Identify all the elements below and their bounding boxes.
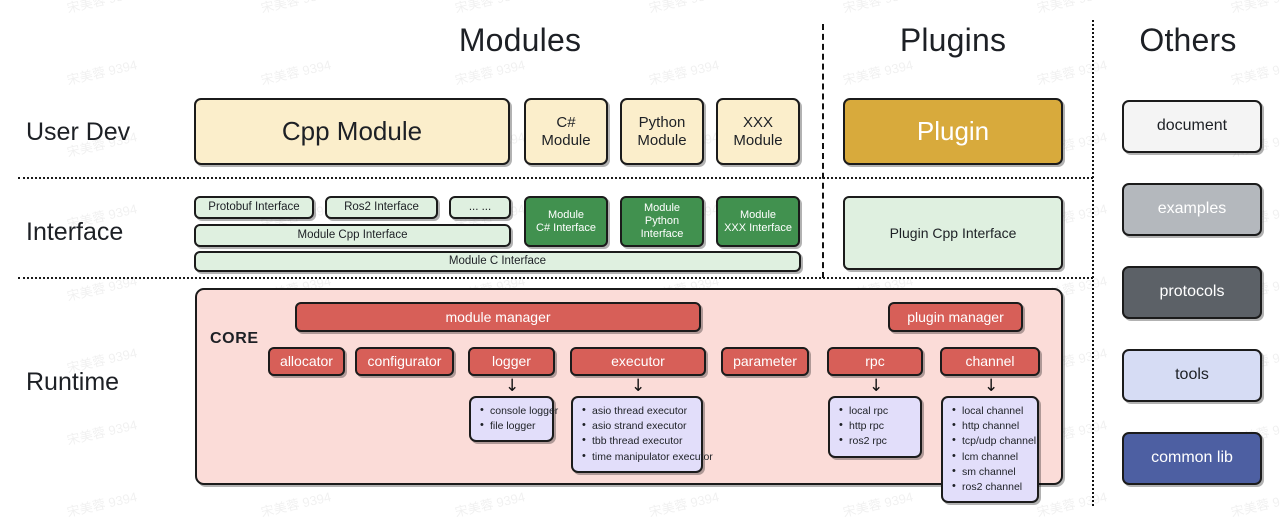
others-tools-label: tools: [1175, 366, 1209, 385]
core-label: CORE: [210, 330, 259, 348]
row-label-user-dev: User Dev: [26, 118, 130, 147]
detail-list-item: tbb thread executor: [592, 434, 693, 449]
interface-module-c[interactable]: Module C Interface: [194, 251, 801, 272]
row-label-interface: Interface: [26, 218, 123, 247]
core-module-manager[interactable]: module manager: [295, 302, 701, 332]
interface-module-c-label: Module C Interface: [449, 255, 546, 269]
watermark: 宋美蓉 9394: [259, 0, 333, 17]
arrow-down-icon-executor: ↓: [631, 378, 645, 395]
watermark: 宋美蓉 9394: [65, 486, 139, 521]
detail-list-executor-items: asio thread executorasio strand executor…: [579, 404, 693, 465]
interface-module-csharp[interactable]: ModuleC# Interface: [524, 196, 608, 247]
detail-list-item: asio thread executor: [592, 404, 693, 419]
core-component-configurator[interactable]: configurator: [355, 347, 454, 376]
divider-interface-runtime: [18, 277, 1093, 279]
detail-list-logger-items: console loggerfile logger: [477, 404, 544, 434]
core-component-channel[interactable]: channel: [940, 347, 1040, 376]
watermark: 宋美蓉 9394: [65, 0, 139, 17]
detail-list-item: lcm channel: [962, 450, 1029, 465]
detail-list-rpc: local rpchttp rpcros2 rpc: [828, 396, 922, 458]
interface-protobuf-label: Protobuf Interface: [208, 201, 299, 215]
others-tools[interactable]: tools: [1122, 349, 1262, 402]
divider-user-dev-interface: [18, 177, 1093, 179]
divider-plugins-others: [1092, 20, 1094, 506]
detail-list-item: ros2 rpc: [849, 434, 912, 449]
watermark: 宋美蓉 9394: [1229, 0, 1280, 17]
core-plugin-manager[interactable]: plugin manager: [888, 302, 1023, 332]
watermark: 宋美蓉 9394: [259, 486, 333, 521]
watermark: 宋美蓉 9394: [841, 0, 915, 17]
others-document-label: document: [1157, 117, 1227, 136]
detail-list-channel: local channelhttp channeltcp/udp channel…: [941, 396, 1039, 503]
watermark: 宋美蓉 9394: [1229, 486, 1280, 521]
column-title-plugins: Plugins: [833, 22, 1073, 59]
others-examples-label: examples: [1158, 200, 1226, 219]
core-component-rpc-label: rpc: [865, 353, 884, 370]
divider-modules-plugins: [822, 24, 824, 278]
interface-module-xxx[interactable]: ModuleXXX Interface: [716, 196, 800, 247]
watermark: 宋美蓉 9394: [259, 54, 333, 89]
interface-ros2[interactable]: Ros2 Interface: [325, 196, 438, 219]
core-component-rpc[interactable]: rpc: [827, 347, 923, 376]
core-component-allocator[interactable]: allocator: [268, 347, 345, 376]
detail-list-logger: console loggerfile logger: [469, 396, 554, 442]
detail-list-channel-items: local channelhttp channeltcp/udp channel…: [949, 404, 1029, 495]
detail-list-executor: asio thread executorasio strand executor…: [571, 396, 703, 473]
column-title-others: Others: [1102, 22, 1274, 59]
watermark: 宋美蓉 9394: [647, 486, 721, 521]
others-common-lib-label: common lib: [1151, 449, 1233, 468]
core-component-allocator-label: allocator: [280, 353, 333, 370]
core-component-parameter[interactable]: parameter: [721, 347, 809, 376]
interface-ros2-label: Ros2 Interface: [344, 201, 419, 215]
detail-list-item: http rpc: [849, 419, 912, 434]
detail-list-item: http channel: [962, 419, 1029, 434]
watermark: 宋美蓉 9394: [841, 486, 915, 521]
interface-ellipsis-label: ... ...: [469, 201, 491, 215]
core-component-channel-label: channel: [965, 353, 1014, 370]
core-plugin-manager-label: plugin manager: [907, 309, 1004, 326]
detail-list-item: file logger: [490, 419, 544, 434]
interface-module-python[interactable]: ModulePython Interface: [620, 196, 704, 247]
core-component-logger[interactable]: logger: [468, 347, 555, 376]
watermark: 宋美蓉 9394: [1035, 54, 1109, 89]
interface-module-python-label: ModulePython Interface: [622, 202, 702, 241]
diagram-canvas: 宋美蓉 9394宋美蓉 9394宋美蓉 9394宋美蓉 9394宋美蓉 9394…: [0, 0, 1280, 519]
others-document[interactable]: document: [1122, 100, 1262, 153]
arrow-down-icon-rpc: ↓: [869, 378, 883, 395]
user-dev-python-module-label: PythonModule: [637, 114, 686, 149]
watermark: 宋美蓉 9394: [65, 54, 139, 89]
others-common-lib[interactable]: common lib: [1122, 432, 1262, 485]
others-examples[interactable]: examples: [1122, 183, 1262, 236]
user-dev-plugin[interactable]: Plugin: [843, 98, 1063, 165]
core-module-manager-label: module manager: [445, 309, 550, 326]
detail-list-item: sm channel: [962, 465, 1029, 480]
row-label-runtime: Runtime: [26, 368, 119, 397]
interface-protobuf[interactable]: Protobuf Interface: [194, 196, 314, 219]
watermark: 宋美蓉 9394: [1229, 54, 1280, 89]
watermark: 宋美蓉 9394: [647, 54, 721, 89]
user-dev-cpp-module[interactable]: Cpp Module: [194, 98, 510, 165]
user-dev-csharp-module-label: C#Module: [541, 114, 590, 149]
interface-module-csharp-label: ModuleC# Interface: [536, 209, 596, 235]
interface-ellipsis[interactable]: ... ...: [449, 196, 511, 219]
interface-module-xxx-label: ModuleXXX Interface: [724, 209, 792, 235]
watermark: 宋美蓉 9394: [841, 54, 915, 89]
user-dev-cpp-module-label: Cpp Module: [282, 116, 422, 147]
user-dev-python-module[interactable]: PythonModule: [620, 98, 704, 165]
detail-list-rpc-items: local rpchttp rpcros2 rpc: [836, 404, 912, 450]
user-dev-csharp-module[interactable]: C#Module: [524, 98, 608, 165]
core-component-logger-label: logger: [492, 353, 531, 370]
detail-list-item: tcp/udp channel: [962, 434, 1029, 449]
user-dev-xxx-module[interactable]: XXXModule: [716, 98, 800, 165]
watermark: 宋美蓉 9394: [453, 486, 527, 521]
interface-plugin-cpp[interactable]: Plugin Cpp Interface: [843, 196, 1063, 270]
watermark: 宋美蓉 9394: [647, 0, 721, 17]
watermark: 宋美蓉 9394: [1035, 0, 1109, 17]
detail-list-item: console logger: [490, 404, 544, 419]
detail-list-item: time manipulator executor: [592, 450, 693, 465]
core-component-parameter-label: parameter: [733, 353, 797, 370]
watermark: 宋美蓉 9394: [1035, 486, 1109, 521]
user-dev-xxx-module-label: XXXModule: [733, 114, 782, 149]
core-component-configurator-label: configurator: [368, 353, 442, 370]
detail-list-item: local channel: [962, 404, 1029, 419]
detail-list-item: asio strand executor: [592, 419, 693, 434]
detail-list-item: ros2 channel: [962, 480, 1029, 495]
core-component-executor-label: executor: [611, 353, 665, 370]
core-component-executor[interactable]: executor: [570, 347, 706, 376]
watermark: 宋美蓉 9394: [65, 270, 139, 305]
others-protocols-label: protocols: [1160, 283, 1225, 302]
others-protocols[interactable]: protocols: [1122, 266, 1262, 319]
watermark: 宋美蓉 9394: [453, 54, 527, 89]
user-dev-plugin-label: Plugin: [917, 116, 989, 147]
interface-module-cpp[interactable]: Module Cpp Interface: [194, 224, 511, 247]
interface-module-cpp-label: Module Cpp Interface: [298, 229, 408, 243]
watermark: 宋美蓉 9394: [65, 414, 139, 449]
arrow-down-icon-logger: ↓: [505, 378, 519, 395]
watermark: 宋美蓉 9394: [453, 0, 527, 17]
arrow-down-icon-channel: ↓: [984, 378, 998, 395]
column-title-modules: Modules: [380, 22, 660, 59]
interface-plugin-cpp-label: Plugin Cpp Interface: [890, 225, 1017, 242]
detail-list-item: local rpc: [849, 404, 912, 419]
